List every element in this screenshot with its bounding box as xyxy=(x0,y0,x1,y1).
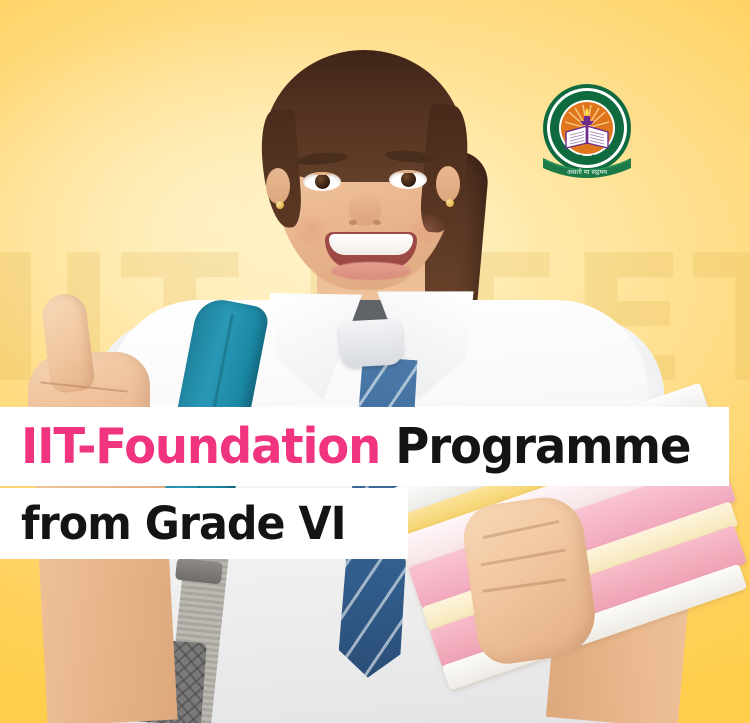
ear-left xyxy=(266,168,290,204)
backpack-buckle xyxy=(175,558,223,585)
headline-highlight: IIT-Foundation xyxy=(21,418,380,475)
cbse-logo-motto-text: असतो मा सद्गमय xyxy=(567,168,607,176)
headline-line-2: from Grade VI xyxy=(21,501,346,546)
eyelid-left xyxy=(303,172,341,175)
ear-right xyxy=(436,166,460,202)
headline-line-1: IIT-Foundation Programme xyxy=(21,422,690,471)
tie-knot xyxy=(339,318,403,367)
hand-right xyxy=(459,492,600,667)
iit-foundation-poster: IIT-NEET xyxy=(0,0,750,723)
pupil-left xyxy=(315,174,330,189)
cbse-logo-city-text: दिल्ली xyxy=(577,154,596,164)
eyelid-right xyxy=(389,170,427,173)
eye-right xyxy=(389,170,427,189)
headline-rest: Programme xyxy=(380,418,690,475)
nostril-right xyxy=(373,220,381,225)
earring-right xyxy=(446,199,454,207)
cbse-logo: केन्द्रीय माध्यमिक शिक्षा बोर्ड दिल्ली अ… xyxy=(539,82,635,178)
headline-band-secondary: from Grade VI xyxy=(0,488,408,559)
eye-left xyxy=(303,172,341,191)
headline-band-primary: IIT-Foundation Programme xyxy=(0,407,729,486)
nostril-left xyxy=(349,220,357,225)
student-photo xyxy=(0,0,750,723)
earring-left xyxy=(276,201,284,209)
cbse-logo-icon: केन्द्रीय माध्यमिक शिक्षा बोर्ड दिल्ली अ… xyxy=(539,82,635,178)
lower-lip xyxy=(331,262,411,280)
pupil-right xyxy=(401,172,416,187)
teeth xyxy=(329,234,413,255)
